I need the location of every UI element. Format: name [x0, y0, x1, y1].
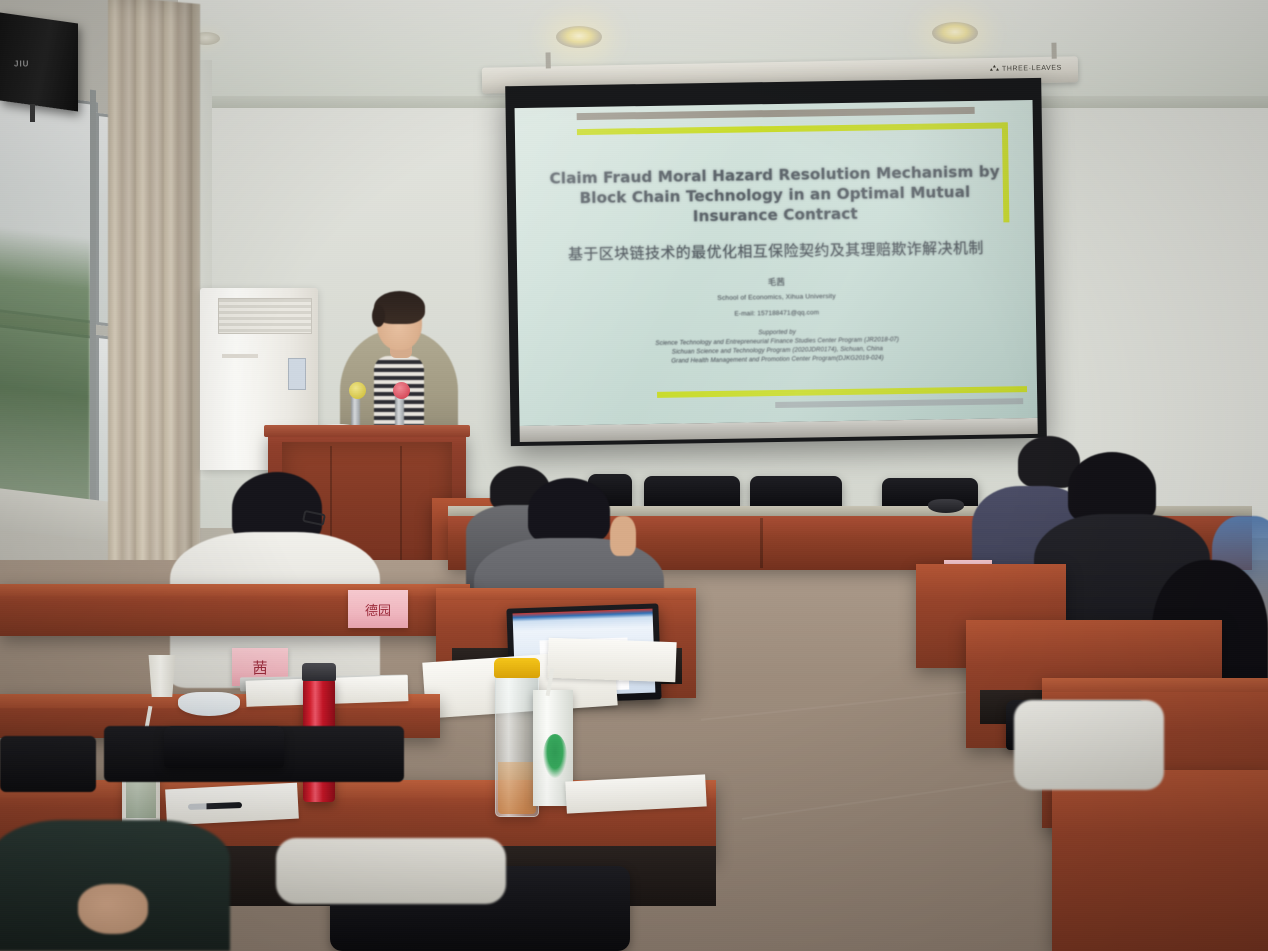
face-mask[interactable]: [178, 692, 240, 716]
back-table-divider: [760, 518, 763, 568]
window-mullion: [90, 90, 96, 531]
slide-decor-bottom-yellow: [657, 386, 1027, 398]
ac-vent-grille: [218, 298, 312, 334]
water-bottle-cap: [494, 658, 540, 678]
name-card-qian-text: 茜: [252, 657, 267, 678]
desk-right-front-top: [1042, 678, 1268, 692]
speaker-brand-label: JIU: [14, 60, 29, 69]
ac-seam: [222, 354, 258, 358]
coat-on-chair: [276, 838, 506, 904]
projector-screen: Claim Fraud Moral Hazard Resolution Mech…: [505, 78, 1047, 446]
desk-mid-center-top: [436, 588, 696, 600]
slide-decor-top-yellow: [577, 122, 1007, 135]
projector-brand-text: THREE·LEAVES: [1002, 64, 1062, 72]
papers-center-desk-2: [547, 638, 676, 682]
slide-email: E-mail: 157188471@qq.com: [542, 306, 1012, 320]
roller-mount-right: [1051, 43, 1056, 59]
audience-hair: [528, 478, 610, 544]
desk-right-lowest: [1052, 770, 1268, 951]
slide-author-name: 毛茜: [541, 272, 1011, 291]
presenter-hair-bun: [372, 305, 385, 327]
trees-outside-window: [0, 226, 90, 528]
foreground-chair-left[interactable]: [164, 726, 284, 768]
name-card-deyuan-text: 德园: [365, 600, 391, 619]
roller-mount-left: [546, 52, 551, 68]
slide-funding-block: Supported by Science Technology and Entr…: [542, 324, 1013, 367]
microphone-head-right: [393, 382, 410, 399]
slide-decor-top-gray: [577, 107, 975, 120]
thermos-cap: [302, 663, 336, 681]
computer-mouse[interactable]: [928, 499, 964, 513]
microphone-head-left: [349, 382, 366, 399]
wall-speaker: JIU: [0, 13, 78, 112]
three-diamonds-icon: [990, 65, 999, 73]
projector-brand-label: THREE·LEAVES: [990, 64, 1062, 73]
foreground-person-hand: [78, 884, 148, 934]
slide-title-chinese: 基于区块链技术的最优化相互保险契约及其理赔欺诈解决机制: [541, 236, 1011, 264]
slide-decor-bottom-gray: [775, 398, 1023, 408]
carton-art: [126, 780, 156, 818]
audience-raised-hand: [610, 516, 636, 556]
water-bottle-liquid: [498, 762, 536, 814]
ceiling-downlight-3: [932, 22, 978, 44]
window-curtain: [108, 0, 200, 604]
white-jacket-on-chair: [1014, 700, 1164, 790]
ac-control-panel: [288, 358, 306, 390]
podium-seam-right: [400, 446, 402, 566]
classroom-presentation-photo: JIU THREE·LEAVES Claim Fraud Moral Hazar…: [0, 0, 1268, 951]
ceiling-downlight-2: [556, 26, 602, 48]
name-card-deyuan: 德园: [348, 590, 408, 628]
slide-affiliation: School of Economics, Xihua University: [542, 290, 1012, 304]
carton-green-logo: [543, 734, 567, 778]
slide-title-english: Claim Fraud Moral Hazard Resolution Mech…: [540, 162, 1011, 229]
speaker-mount-bracket: [30, 104, 35, 122]
bag-under-desk-2: [0, 736, 96, 792]
podium-top-edge: [264, 425, 470, 437]
slide-surface: Claim Fraud Moral Hazard Resolution Mech…: [515, 100, 1038, 426]
